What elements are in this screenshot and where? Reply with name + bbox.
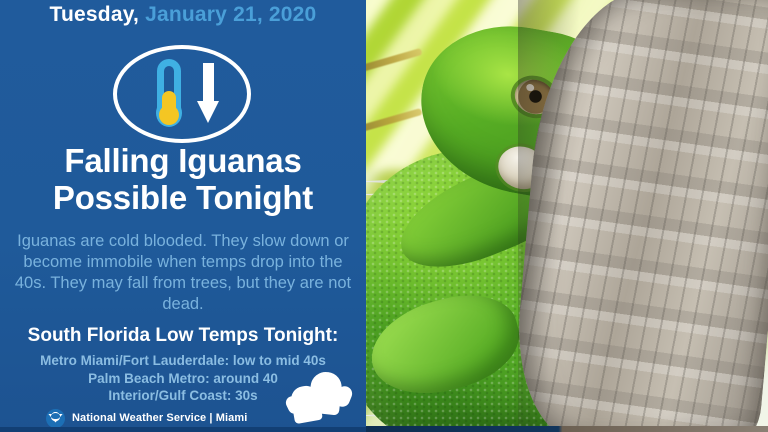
photo-bottom-edge <box>365 426 768 432</box>
headline-line-1: Falling Iguanas <box>0 143 366 180</box>
temps-line: Metro Miami/Fort Lauderdale: low to mid … <box>4 352 362 370</box>
iguana-photo <box>365 0 768 432</box>
headline: Falling Iguanas Possible Tonight <box>0 143 366 217</box>
footer-agency-label: National Weather Service | Miami <box>72 412 247 424</box>
mittens-icon <box>292 372 358 424</box>
arrow-head <box>197 101 219 123</box>
down-arrow-icon <box>197 63 219 125</box>
palm-trunk-shading <box>518 0 768 432</box>
arrow-stem <box>203 63 214 105</box>
date-line: Tuesday, January 21, 2020 <box>0 3 366 27</box>
date-rest: January 21, 2020 <box>139 3 316 26</box>
temps-title: South Florida Low Temps Tonight: <box>0 325 366 347</box>
thermometer-down-icon <box>113 45 251 143</box>
info-panel: Tuesday, January 21, 2020 Falling Iguana… <box>0 0 366 432</box>
headline-line-2: Possible Tonight <box>0 180 366 217</box>
footer: National Weather Service | Miami <box>46 407 247 429</box>
noaa-logo-icon <box>46 409 65 428</box>
thermometer-mercury-bulb <box>159 105 179 125</box>
panel-bottom-bar <box>0 427 366 432</box>
weather-graphic: Tuesday, January 21, 2020 Falling Iguana… <box>0 0 768 432</box>
date-weekday: Tuesday, <box>50 3 140 26</box>
body-text: Iguanas are cold blooded. They slow down… <box>10 231 356 315</box>
thermometer-icon <box>153 59 185 131</box>
